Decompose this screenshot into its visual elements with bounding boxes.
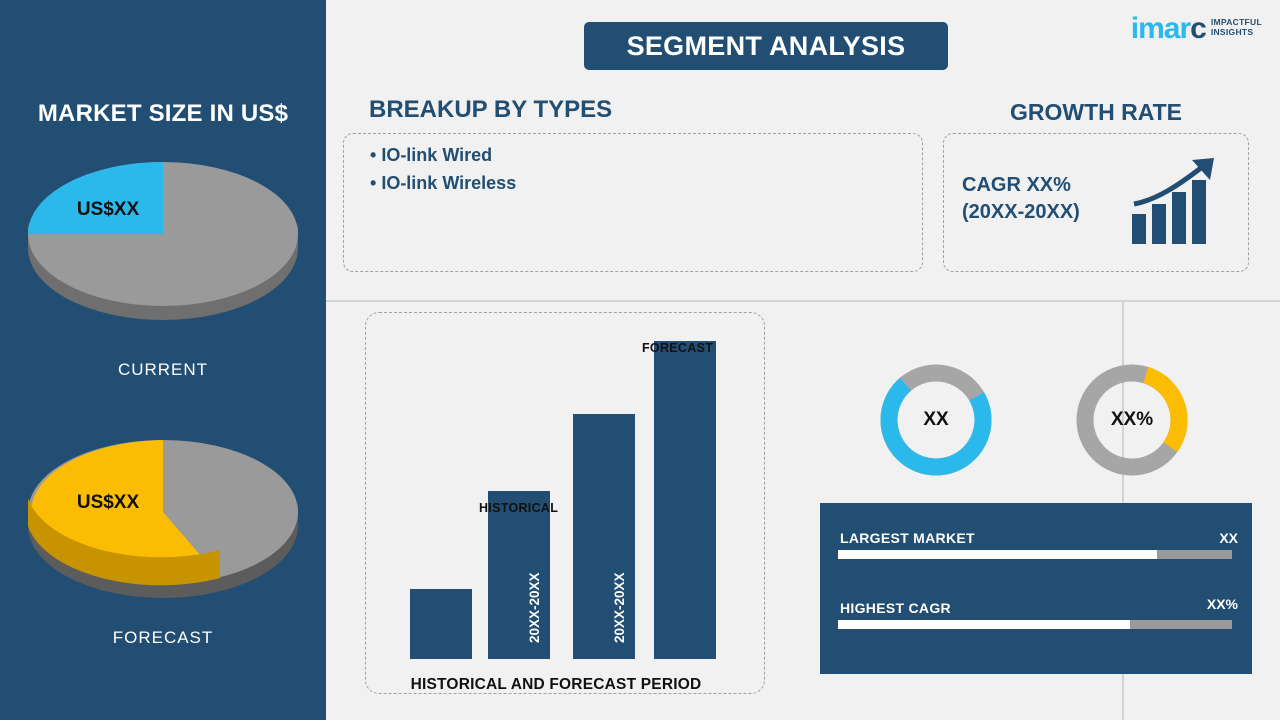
logo-wordmark: imarc: [1131, 14, 1206, 44]
donut-chart-1: XX: [877, 361, 995, 484]
breakup-by-types-heading: BREAKUP BY TYPES: [369, 96, 612, 124]
growth-arrow-bars-icon: [1130, 156, 1228, 253]
bar-3: 20XX-20XX: [573, 414, 635, 659]
key-indicators-card: LARGEST MARKET XX HIGHEST CAGR XX%: [820, 503, 1252, 674]
logo-tagline-line2: INSIGHTS: [1211, 28, 1262, 38]
forecast-pie-chart: US$XX: [18, 438, 308, 608]
donut-chart-2: XX%: [1073, 361, 1191, 484]
cagr-text: CAGR XX% (20XX-20XX): [962, 172, 1112, 226]
highest-cagr-label: HIGHEST CAGR: [840, 600, 951, 616]
current-pie-chart: US$XX: [18, 160, 308, 330]
cagr-line2: (20XX-20XX): [962, 199, 1112, 226]
largest-market-bar-fill: [838, 550, 1157, 559]
growth-rate-heading: GROWTH RATE: [943, 99, 1249, 126]
list-item: IO-link Wireless: [370, 173, 922, 194]
historical-forecast-chart: 20XX-20XX 20XX-20XX HISTORICAL FORECAST: [365, 312, 765, 694]
left-panel-title: MARKET SIZE IN US$: [0, 100, 326, 128]
types-list: IO-link Wired IO-link Wireless: [344, 134, 922, 194]
historical-caption: HISTORICAL: [479, 501, 558, 515]
chart-axis-title: HISTORICAL AND FORECAST PERIOD: [326, 676, 786, 694]
bar-4: [654, 341, 716, 659]
donut-2-value: XX%: [1073, 409, 1191, 431]
left-panel: MARKET SIZE IN US$ US$XX CURRENT: [0, 0, 326, 720]
growth-rate-box: CAGR XX% (20XX-20XX): [943, 133, 1249, 272]
largest-market-label: LARGEST MARKET: [840, 530, 975, 546]
breakup-by-types-box: IO-link Wired IO-link Wireless: [343, 133, 923, 272]
bar-1: [410, 589, 472, 659]
bar-3-label: 20XX-20XX: [612, 572, 627, 643]
logo-wordmark-accent: c: [1190, 12, 1206, 45]
current-pie-label: CURRENT: [0, 360, 326, 380]
bar-2-label: 20XX-20XX: [527, 572, 542, 643]
current-pie-value: US$XX: [77, 199, 140, 220]
donut-1-value: XX: [877, 409, 995, 431]
segment-analysis-infographic: MARKET SIZE IN US$ US$XX CURRENT: [0, 0, 1280, 720]
segment-analysis-banner: SEGMENT ANALYSIS: [584, 22, 948, 70]
imarc-logo: imarc IMPACTFUL INSIGHTS: [1131, 14, 1262, 44]
cagr-line1: CAGR XX%: [962, 172, 1112, 199]
bar-2: 20XX-20XX: [488, 491, 550, 659]
highest-cagr-value: XX%: [1178, 596, 1238, 612]
forecast-pie-value: US$XX: [77, 492, 140, 513]
highest-cagr-bar: [838, 620, 1232, 629]
list-item: IO-link Wired: [370, 145, 922, 166]
forecast-caption: FORECAST: [642, 341, 713, 355]
forecast-pie-label: FORECAST: [0, 628, 326, 648]
highest-cagr-bar-fill: [838, 620, 1130, 629]
horizontal-divider: [326, 300, 1280, 302]
largest-market-value: XX: [1178, 530, 1238, 546]
largest-market-bar: [838, 550, 1232, 559]
